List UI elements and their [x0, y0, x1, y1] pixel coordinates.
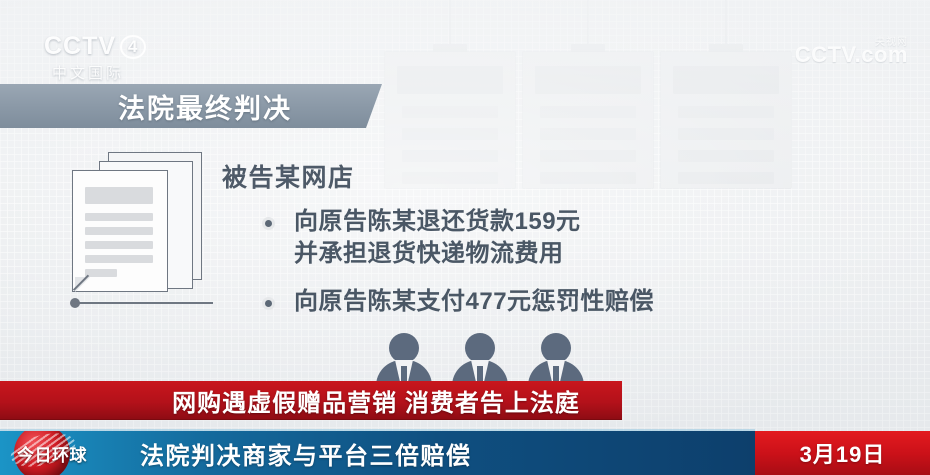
list-item: 向原告陈某退还货款159元 并承担退货快递物流费用	[262, 206, 782, 270]
bullet-dot-icon	[262, 217, 275, 230]
lower-third-bar: 今日环球 法院判决商家与平台三倍赔偿 3月19日	[0, 431, 930, 475]
person-head	[541, 333, 571, 363]
cctv4-channel-logo: CCTV 4 中文国际	[44, 32, 146, 83]
program-name: 今日环球	[17, 441, 87, 466]
document-text-line	[85, 269, 117, 277]
document-text-line	[85, 241, 153, 249]
headline-text: 网购遇虚假赠品营销 消费者告上法庭	[42, 383, 580, 418]
document-text-line	[85, 227, 153, 235]
broadcast-screen: CCTV 4 中文国际 央视网 CCTV.com 法院最终判决 被告某网店	[0, 0, 930, 475]
person-silhouette	[528, 333, 584, 387]
lower-third-top-highlight	[0, 429, 755, 431]
person-silhouette	[376, 333, 432, 387]
bullet-text: 向原告陈某退还货款159元 并承担退货快递物流费用	[294, 206, 782, 270]
document-baseline	[75, 302, 213, 304]
document-text-line	[85, 213, 153, 221]
document-page-front	[72, 170, 168, 292]
date-block: 3月19日	[755, 431, 930, 475]
bullet-text: 向原告陈某支付477元惩罚性赔偿	[294, 286, 782, 318]
bullet-line-1: 向原告陈某支付477元惩罚性赔偿	[294, 288, 654, 315]
person-head	[465, 333, 495, 363]
document-baseline-dot	[70, 298, 80, 308]
bullet-line-2: 并承担退货快递物流费用	[294, 238, 782, 270]
bullet-dot-icon	[262, 297, 275, 310]
person-silhouette	[452, 333, 508, 387]
cctv-com-watermark: 央视网 CCTV.com	[795, 42, 908, 68]
defendant-label: 被告某网店	[222, 158, 355, 194]
lower-third-blue-section: 今日环球 法院判决商家与平台三倍赔偿	[0, 431, 755, 475]
judgment-bullet-list: 向原告陈某退还货款159元 并承担退货快递物流费用 向原告陈某支付477元惩罚性…	[262, 206, 782, 334]
title-banner: 法院最终判决	[0, 84, 352, 128]
list-item: 向原告陈某支付477元惩罚性赔偿	[262, 286, 782, 318]
broadcast-date: 3月19日	[800, 437, 886, 469]
watermark-chinese-text: 央视网	[875, 33, 908, 48]
globe-icon: 今日环球	[0, 431, 104, 475]
cctv-logo-subtitle: 中文国际	[52, 62, 146, 83]
person-head	[389, 333, 419, 363]
lower-third-subtitle: 法院判决商家与平台三倍赔偿	[140, 436, 472, 471]
document-stack-icon	[70, 152, 220, 312]
title-banner-text: 法院最终判决	[118, 87, 292, 126]
document-text-line	[85, 255, 153, 263]
bullet-line-1: 向原告陈某退还货款159元	[294, 208, 581, 235]
cctv-channel-number: 4	[120, 35, 146, 59]
document-text-block	[85, 187, 153, 204]
cctv-logo-row: CCTV 4	[44, 32, 146, 61]
headline-banner: 网购遇虚假赠品营销 消费者告上法庭	[0, 381, 622, 420]
people-group-icon	[376, 333, 584, 387]
cctv-logo-text: CCTV	[44, 32, 116, 61]
